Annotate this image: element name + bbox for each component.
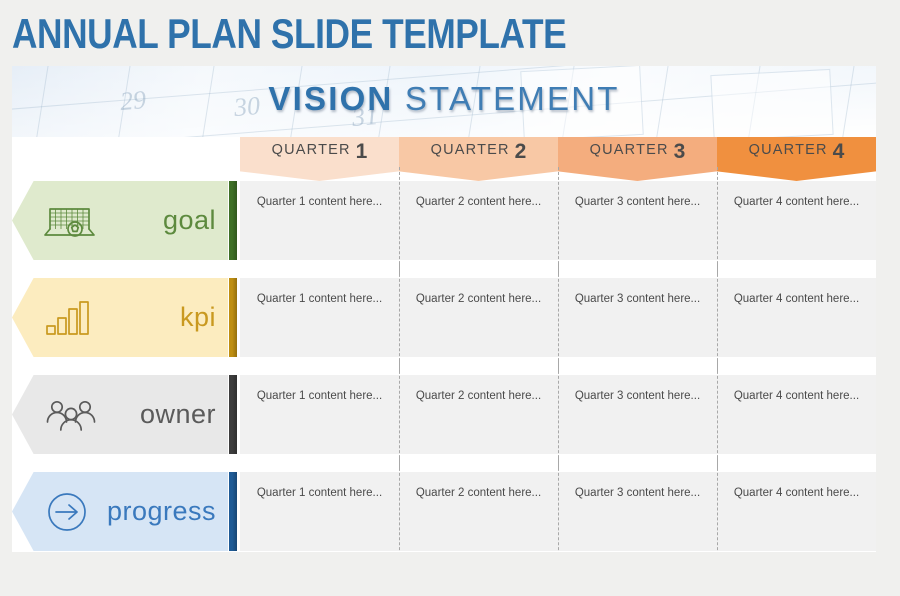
statement-word: STATEMENT [405,80,620,117]
row-content-kpi: Quarter 1 content here...Quarter 2 conte… [240,278,876,357]
vision-word: VISION [268,80,393,117]
quarter-header-label: QUARTER [431,142,510,158]
cell-progress-q4[interactable]: Quarter 4 content here... [717,472,876,551]
page-title: ANNUAL PLAN SLIDE TEMPLATE [12,8,734,60]
cell-kpi-q3[interactable]: Quarter 3 content here... [558,278,717,357]
cell-progress-q2[interactable]: Quarter 2 content here... [399,472,558,551]
cell-progress-q1[interactable]: Quarter 1 content here... [240,472,399,551]
people-group-icon [44,395,98,435]
row-content-progress: Quarter 1 content here...Quarter 2 conte… [240,472,876,551]
cell-kpi-q2[interactable]: Quarter 2 content here... [399,278,558,357]
row-label-kpi[interactable]: kpi [12,278,228,357]
soccer-goal-icon [44,201,96,241]
row-accent-bar-goal [229,181,237,260]
quarter-header-number: 2 [515,140,527,164]
plan-row-kpi: kpiQuarter 1 content here...Quarter 2 co… [12,278,876,357]
cell-owner-q3[interactable]: Quarter 3 content here... [558,375,717,454]
row-label-text-progress: progress [107,498,228,525]
cell-kpi-q1[interactable]: Quarter 1 content here... [240,278,399,357]
row-label-progress[interactable]: progress [12,472,228,551]
cell-kpi-q4[interactable]: Quarter 4 content here... [717,278,876,357]
quarter-header-number: 4 [833,140,845,164]
cell-owner-q2[interactable]: Quarter 2 content here... [399,375,558,454]
quarter-header-number: 1 [356,140,368,164]
row-label-text-goal: goal [163,207,228,234]
quarter-header-4[interactable]: QUARTER4 [717,137,876,181]
row-label-owner[interactable]: owner [12,375,228,454]
cell-goal-q4[interactable]: Quarter 4 content here... [717,181,876,260]
arrow-circle-icon [44,490,90,534]
cell-goal-q3[interactable]: Quarter 3 content here... [558,181,717,260]
quarter-header-2[interactable]: QUARTER2 [399,137,558,181]
bar-chart-icon [44,298,94,338]
quarter-header-number: 3 [674,140,686,164]
cell-owner-q1[interactable]: Quarter 1 content here... [240,375,399,454]
plan-row-goal: goalQuarter 1 content here...Quarter 2 c… [12,181,876,260]
vision-statement-title: VISION STATEMENT [12,80,876,118]
row-accent-bar-kpi [229,278,237,357]
plan-grid: goalQuarter 1 content here...Quarter 2 c… [12,181,876,552]
cell-goal-q2[interactable]: Quarter 2 content here... [399,181,558,260]
slide-canvas: 293031 VISION STATEMENT QUARTER1QUARTER2… [12,66,876,552]
cell-goal-q1[interactable]: Quarter 1 content here... [240,181,399,260]
row-accent-bar-progress [229,472,237,551]
cell-progress-q3[interactable]: Quarter 3 content here... [558,472,717,551]
cell-owner-q4[interactable]: Quarter 4 content here... [717,375,876,454]
row-content-goal: Quarter 1 content here...Quarter 2 conte… [240,181,876,260]
quarter-header-label: QUARTER [590,142,669,158]
hero-banner: 293031 VISION STATEMENT [12,66,876,137]
row-content-owner: Quarter 1 content here...Quarter 2 conte… [240,375,876,454]
row-label-text-owner: owner [140,401,228,428]
quarter-header-3[interactable]: QUARTER3 [558,137,717,181]
plan-row-owner: ownerQuarter 1 content here...Quarter 2 … [12,375,876,454]
row-label-text-kpi: kpi [180,304,228,331]
row-label-goal[interactable]: goal [12,181,228,260]
quarter-header-label: QUARTER [749,142,828,158]
row-accent-bar-owner [229,375,237,454]
quarter-header-1[interactable]: QUARTER1 [240,137,399,181]
plan-row-progress: progressQuarter 1 content here...Quarter… [12,472,876,551]
quarter-header-label: QUARTER [272,142,351,158]
